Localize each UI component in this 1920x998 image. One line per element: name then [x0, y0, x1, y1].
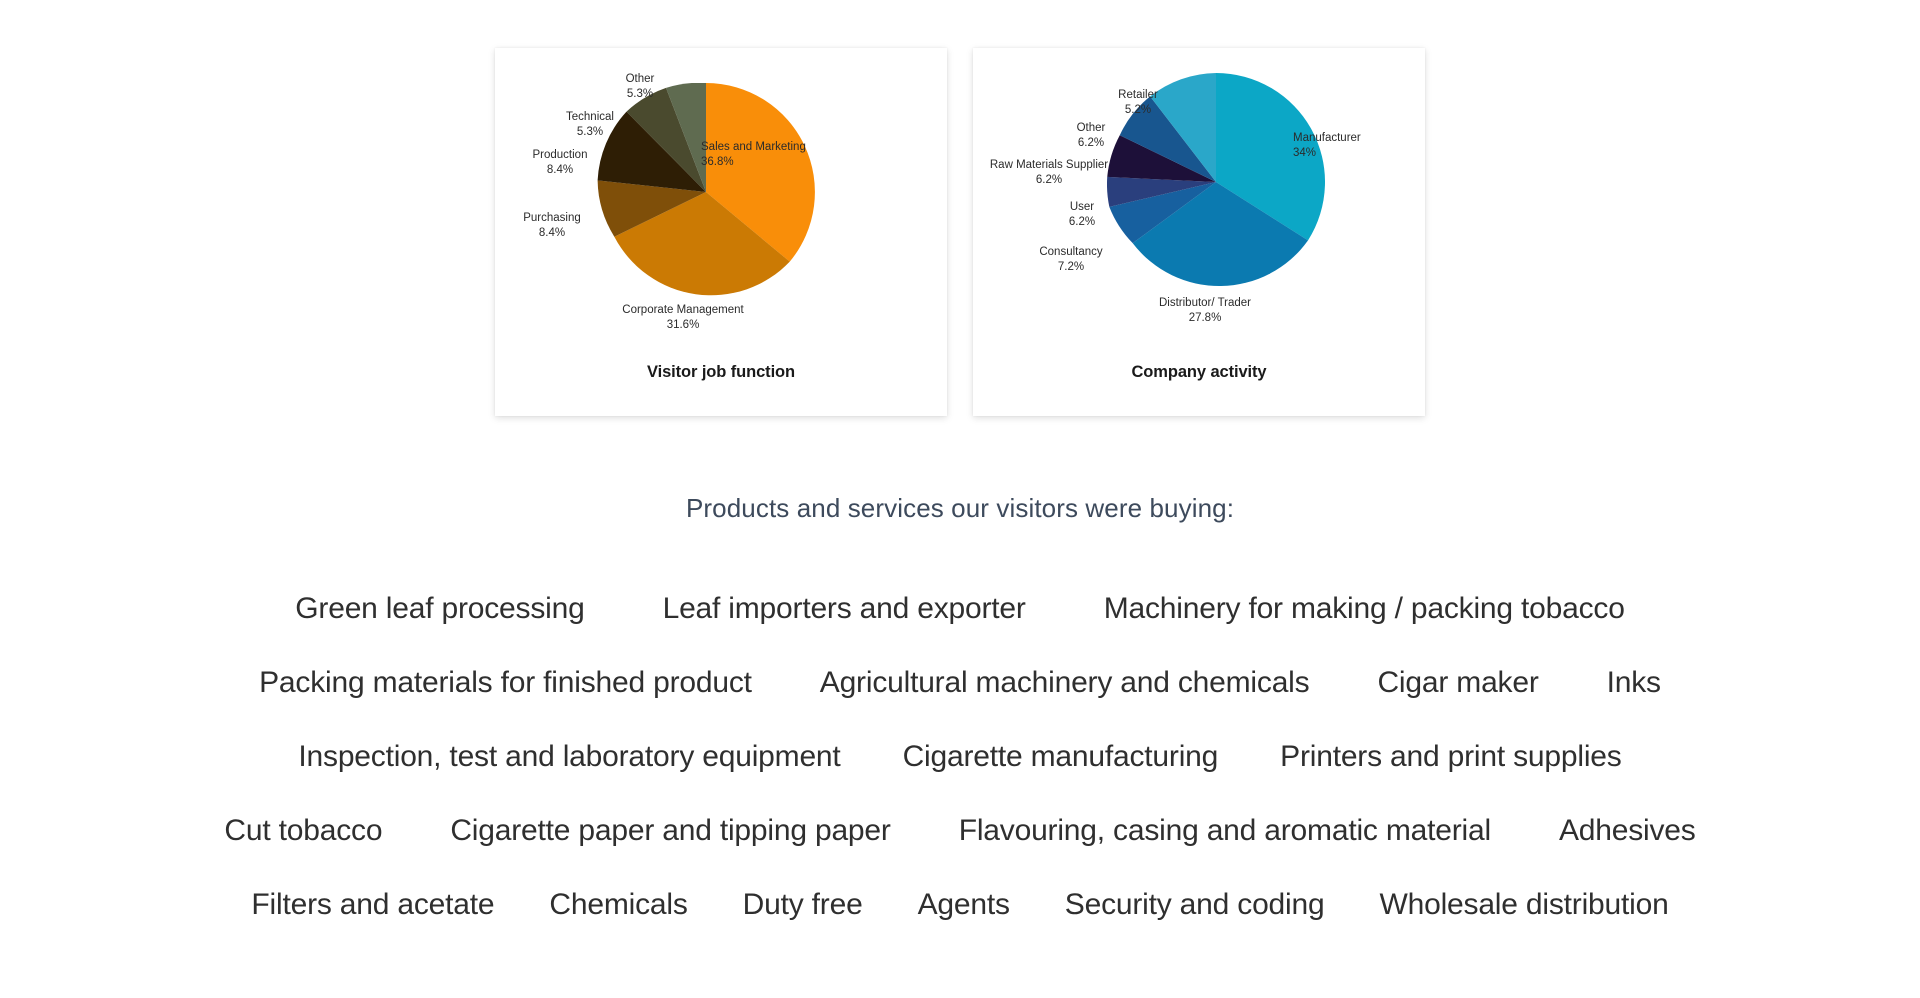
product-tag[interactable]: Security and coding [1065, 888, 1325, 922]
product-tag[interactable]: Agricultural machinery and chemicals [820, 666, 1310, 700]
chart-title-visitor-job-function: Visitor job function [495, 363, 947, 382]
product-tag[interactable]: Inspection, test and laboratory equipmen… [298, 740, 840, 774]
product-tag[interactable]: Cigar maker [1377, 666, 1538, 700]
chart-title-company-activity: Company activity [973, 363, 1425, 382]
product-tag[interactable]: Flavouring, casing and aromatic material [959, 814, 1491, 848]
pie-label-technical: Technical 5.3% [545, 110, 635, 139]
pie-plot-company-activity: Manufacturer 34% Distributor/ Trader 27.… [973, 48, 1425, 348]
pie-label-raw-text: Raw Materials Supplier [990, 159, 1108, 171]
pie-label-raw-pct: 6.2% [979, 173, 1119, 188]
tag-row: Green leaf processing Leaf importers and… [160, 592, 1760, 666]
product-tag-cloud: Green leaf processing Leaf importers and… [160, 592, 1760, 962]
tag-row: Inspection, test and laboratory equipmen… [160, 740, 1760, 814]
pie-label-distributor-pct: 27.8% [1125, 311, 1285, 326]
pie-label-sales-and-marketing: Sales and Marketing 36.8% [701, 140, 806, 169]
pie-label-other: Other 5.3% [605, 72, 675, 101]
pie-label-manufacturer-text: Manufacturer [1293, 132, 1361, 144]
pie-label-other-pct: 5.3% [605, 87, 675, 102]
pie-label-technical-pct: 5.3% [545, 125, 635, 140]
pie-label-consultancy-pct: 7.2% [1021, 260, 1121, 275]
product-tag[interactable]: Leaf importers and exporter [663, 592, 1026, 626]
product-tag[interactable]: Agents [918, 888, 1010, 922]
product-tag[interactable]: Cut tobacco [224, 814, 382, 848]
pie-label-other-text: Other [626, 73, 655, 85]
product-tag[interactable]: Wholesale distribution [1379, 888, 1668, 922]
pie-label-retailer: Retailer 5.2% [1103, 88, 1173, 117]
pie-label-sales-text: Sales and Marketing [701, 141, 806, 153]
pie-label-other-text: Other [1077, 122, 1106, 134]
pie-label-production: Production 8.4% [515, 148, 605, 177]
pie-label-user-pct: 6.2% [1047, 215, 1117, 230]
pie-label-consultancy: Consultancy 7.2% [1021, 245, 1121, 274]
product-tag[interactable]: Duty free [743, 888, 863, 922]
product-tag[interactable]: Cigarette paper and tipping paper [450, 814, 890, 848]
pie-label-distributor-text: Distributor/ Trader [1159, 297, 1251, 309]
pie-label-raw-materials-supplier: Raw Materials Supplier 6.2% [979, 158, 1119, 187]
pie-label-purchasing-pct: 8.4% [507, 226, 597, 241]
pie-label-other-pct: 6.2% [1061, 136, 1121, 151]
pie-label-corporate-management: Corporate Management 31.6% [583, 303, 783, 332]
pie-label-technical-text: Technical [566, 111, 614, 123]
pie-label-corporate-pct: 31.6% [583, 318, 783, 333]
pie-label-purchasing: Purchasing 8.4% [507, 211, 597, 240]
pie-label-manufacturer-pct: 34% [1293, 146, 1361, 161]
chart-card-company-activity: Manufacturer 34% Distributor/ Trader 27.… [973, 48, 1425, 416]
pie-label-user: User 6.2% [1047, 200, 1117, 229]
product-tag[interactable]: Green leaf processing [295, 592, 584, 626]
pie-label-retailer-text: Retailer [1118, 89, 1158, 101]
product-tag[interactable]: Filters and acetate [251, 888, 494, 922]
pie-label-sales-pct: 36.8% [701, 155, 806, 170]
product-tag[interactable]: Machinery for making / packing tobacco [1104, 592, 1625, 626]
tag-row: Packing materials for finished product A… [160, 666, 1760, 740]
charts-row: Sales and Marketing 36.8% Corporate Mana… [0, 48, 1920, 416]
page-root: Sales and Marketing 36.8% Corporate Mana… [0, 0, 1920, 998]
pie-label-distributor-trader: Distributor/ Trader 27.8% [1125, 296, 1285, 325]
pie-plot-visitor-job-function: Sales and Marketing 36.8% Corporate Mana… [495, 48, 947, 348]
product-tag[interactable]: Packing materials for finished product [259, 666, 752, 700]
pie-label-production-pct: 8.4% [515, 163, 605, 178]
products-services-heading: Products and services our visitors were … [0, 493, 1920, 524]
pie-label-purchasing-text: Purchasing [523, 212, 581, 224]
pie-label-retailer-pct: 5.2% [1103, 103, 1173, 118]
pie-label-user-text: User [1070, 201, 1094, 213]
product-tag[interactable]: Printers and print supplies [1280, 740, 1621, 774]
pie-label-manufacturer: Manufacturer 34% [1293, 131, 1361, 160]
pie-label-corporate-text: Corporate Management [622, 304, 743, 316]
pie-label-other: Other 6.2% [1061, 121, 1121, 150]
product-tag[interactable]: Adhesives [1559, 814, 1696, 848]
product-tag[interactable]: Cigarette manufacturing [903, 740, 1219, 774]
product-tag[interactable]: Inks [1607, 666, 1661, 700]
pie-label-production-text: Production [533, 149, 588, 161]
tag-row: Cut tobacco Cigarette paper and tipping … [160, 814, 1760, 888]
pie-label-consultancy-text: Consultancy [1039, 246, 1102, 258]
product-tag[interactable]: Chemicals [549, 888, 687, 922]
tag-row: Filters and acetate Chemicals Duty free … [160, 888, 1760, 962]
chart-card-visitor-job-function: Sales and Marketing 36.8% Corporate Mana… [495, 48, 947, 416]
